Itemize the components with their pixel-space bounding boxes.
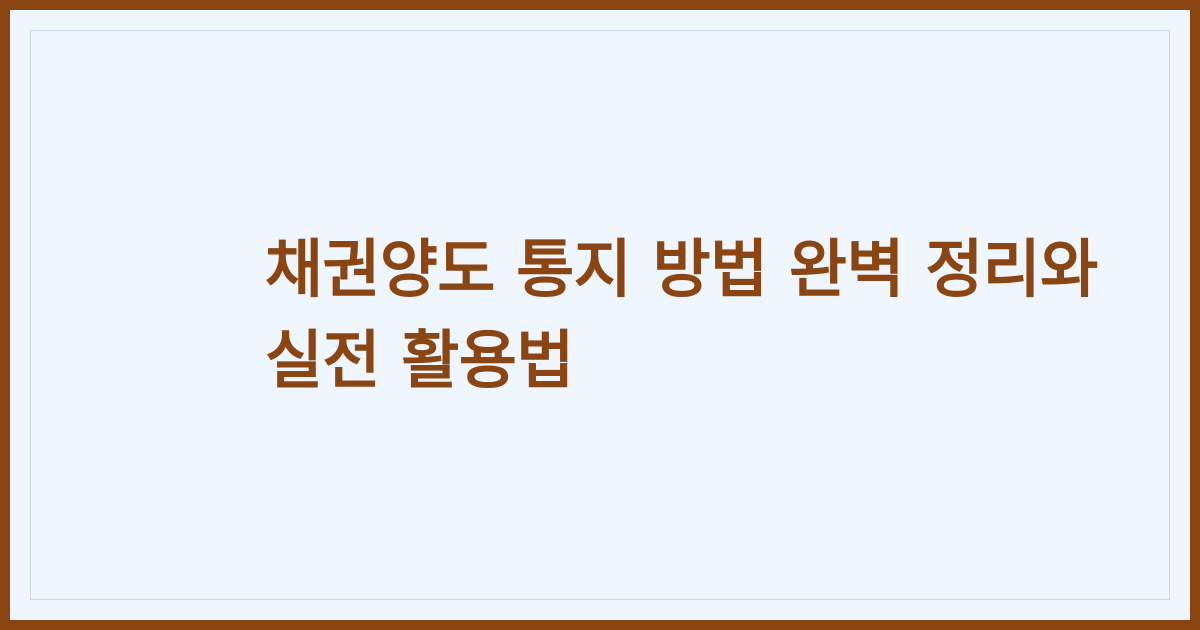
title-card: 채권양도 통지 방법 완벽 정리와 실전 활용법: [0, 0, 1200, 630]
page-title: 채권양도 통지 방법 완벽 정리와 실전 활용법: [10, 224, 1190, 407]
